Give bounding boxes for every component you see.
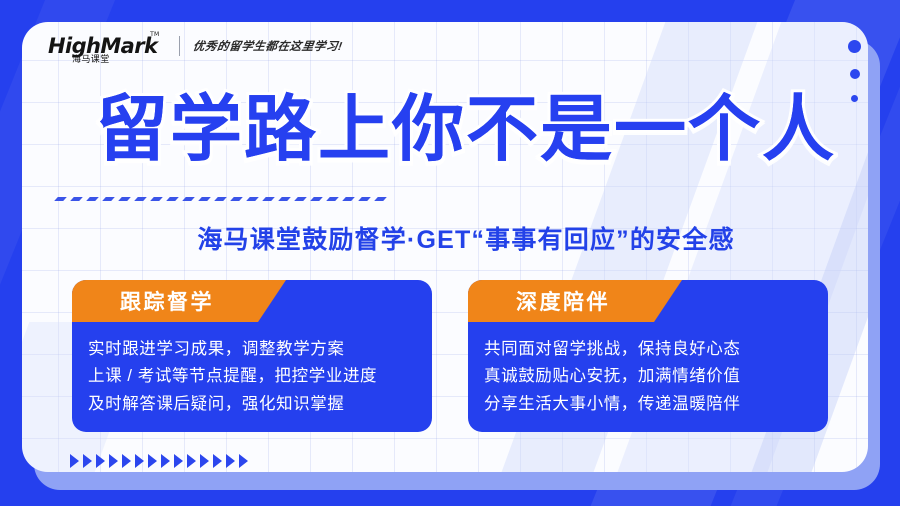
slash-mark-icon (134, 197, 147, 201)
slash-divider (56, 192, 856, 206)
page-title-fill: 留学路上你不是一个人 (52, 94, 868, 166)
feature-card-line: 及时解答课后疑问，强化知识掌握 (88, 391, 418, 418)
chevron-right-icon (96, 454, 105, 468)
slash-mark-icon (374, 197, 387, 201)
page-subtitle: 海马课堂鼓励督学·GET“事事有回应”的安全感 (52, 220, 868, 256)
slash-mark-icon (198, 197, 211, 201)
feature-card: 深度陪伴 共同面对留学挑战，保持良好心态 真诚鼓励贴心安抚，加满情绪价值 分享生… (468, 280, 828, 432)
slash-mark-icon (86, 197, 99, 201)
chevron-right-icon (135, 454, 144, 468)
circle-icon (850, 69, 860, 79)
circle-icon (848, 40, 861, 53)
feature-card-body: 共同面对留学挑战，保持良好心态 真诚鼓励贴心安抚，加满情绪价值 分享生活大事小情… (468, 328, 828, 418)
feature-card-title: 跟踪督学 (120, 286, 238, 316)
slash-mark-icon (230, 197, 243, 201)
circle-icon (851, 95, 858, 102)
content-panel: HighMark TM 海马课堂 优秀的留学生都在这里学习! 留学路上你不是一个… (22, 22, 868, 472)
dot-decoration-column (848, 40, 861, 102)
logo-chinese-name: 海马课堂 (72, 52, 110, 65)
slash-mark-icon (278, 197, 291, 201)
chevron-right-icon (70, 454, 79, 468)
brand-header: HighMark TM 海马课堂 优秀的留学生都在这里学习! (22, 22, 868, 70)
feature-card-line: 共同面对留学挑战，保持良好心态 (484, 336, 814, 363)
chevron-right-icon (187, 454, 196, 468)
slash-mark-icon (246, 197, 259, 201)
feature-card-line: 真诚鼓励贴心安抚，加满情绪价值 (484, 363, 814, 390)
feature-card-line: 上课 / 考试等节点提醒，把控学业进度 (88, 363, 418, 390)
feature-card: 跟踪督学 实时跟进学习成果，调整教学方案 上课 / 考试等节点提醒，把控学业进度… (72, 280, 432, 432)
trademark-icon: TM (150, 31, 159, 38)
chevron-right-icon (200, 454, 209, 468)
slash-mark-icon (182, 197, 195, 201)
header-tagline: 优秀的留学生都在这里学习! (192, 38, 344, 54)
feature-card-line: 分享生活大事小情，传递温暖陪伴 (484, 391, 814, 418)
chevron-right-icon (109, 454, 118, 468)
slash-mark-icon (150, 197, 163, 201)
feature-card-body: 实时跟进学习成果，调整教学方案 上课 / 考试等节点提醒，把控学业进度 及时解答… (72, 328, 432, 418)
slash-mark-icon (102, 197, 115, 201)
arrow-decoration-row (70, 454, 248, 468)
slash-mark-icon (358, 197, 371, 201)
slash-mark-icon (118, 197, 131, 201)
feature-card-tab: 跟踪督学 (72, 280, 286, 322)
header-divider (179, 36, 180, 56)
slash-mark-icon (294, 197, 307, 201)
brand-logo: HighMark TM 海马课堂 (48, 36, 157, 57)
chevron-right-icon (83, 454, 92, 468)
slash-mark-icon (326, 197, 339, 201)
slash-mark-icon (310, 197, 323, 201)
slash-mark-icon (54, 197, 67, 201)
feature-card-line: 实时跟进学习成果，调整教学方案 (88, 336, 418, 363)
slash-mark-icon (262, 197, 275, 201)
slash-mark-icon (342, 197, 355, 201)
feature-card-tab: 深度陪伴 (468, 280, 682, 322)
chevron-right-icon (174, 454, 183, 468)
slash-mark-icon (166, 197, 179, 201)
chevron-right-icon (161, 454, 170, 468)
chevron-right-icon (213, 454, 222, 468)
poster-stage: HighMark TM 海马课堂 优秀的留学生都在这里学习! 留学路上你不是一个… (0, 0, 900, 506)
slash-mark-icon (214, 197, 227, 201)
feature-card-title: 深度陪伴 (516, 286, 634, 316)
chevron-right-icon (239, 454, 248, 468)
chevron-right-icon (148, 454, 157, 468)
chevron-right-icon (122, 454, 131, 468)
chevron-right-icon (226, 454, 235, 468)
slash-mark-icon (70, 197, 83, 201)
